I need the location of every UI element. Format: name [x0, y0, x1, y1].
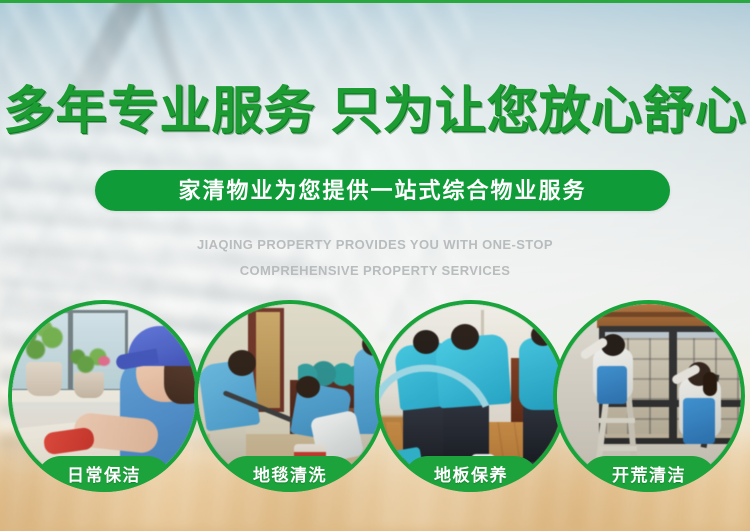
photo-rough-cleaning: [557, 304, 741, 488]
service-photo-ring: [194, 300, 386, 492]
service-photo-ring: [375, 300, 567, 492]
tagline-text: 家清物业为您提供一站式综合物业服务: [178, 180, 586, 202]
promo-banner: 多年专业服务 只为让您放心舒心 家清物业为您提供一站式综合物业服务 JIAQIN…: [0, 0, 750, 531]
top-accent-rule: [0, 0, 750, 3]
service-item-carpet-cleaning[interactable]: 地毯清洗: [194, 300, 386, 492]
service-item-daily-cleaning[interactable]: 日常保洁: [8, 300, 200, 492]
page-title: 多年专业服务 只为让您放心舒心: [0, 82, 750, 140]
subtitle-line-1: JIAQING PROPERTY PROVIDES YOU WITH ONE-S…: [197, 237, 553, 252]
photo-floor-maintenance: [379, 304, 563, 488]
service-circle-row: 日常保洁: [0, 300, 750, 496]
service-photo-ring: [553, 300, 745, 492]
photo-carpet-cleaning: [198, 304, 382, 488]
subtitle-line-2: COMPREHENSIVE PROPERTY SERVICES: [0, 258, 750, 284]
subtitle-english: JIAQING PROPERTY PROVIDES YOU WITH ONE-S…: [0, 232, 750, 284]
service-photo-ring: [8, 300, 200, 492]
service-item-rough-cleaning[interactable]: 开荒清洁: [553, 300, 745, 492]
photo-daily-cleaning: [12, 304, 196, 488]
service-item-floor-maintenance[interactable]: 地板保养: [375, 300, 567, 492]
tagline-pill: 家清物业为您提供一站式综合物业服务: [95, 170, 670, 211]
